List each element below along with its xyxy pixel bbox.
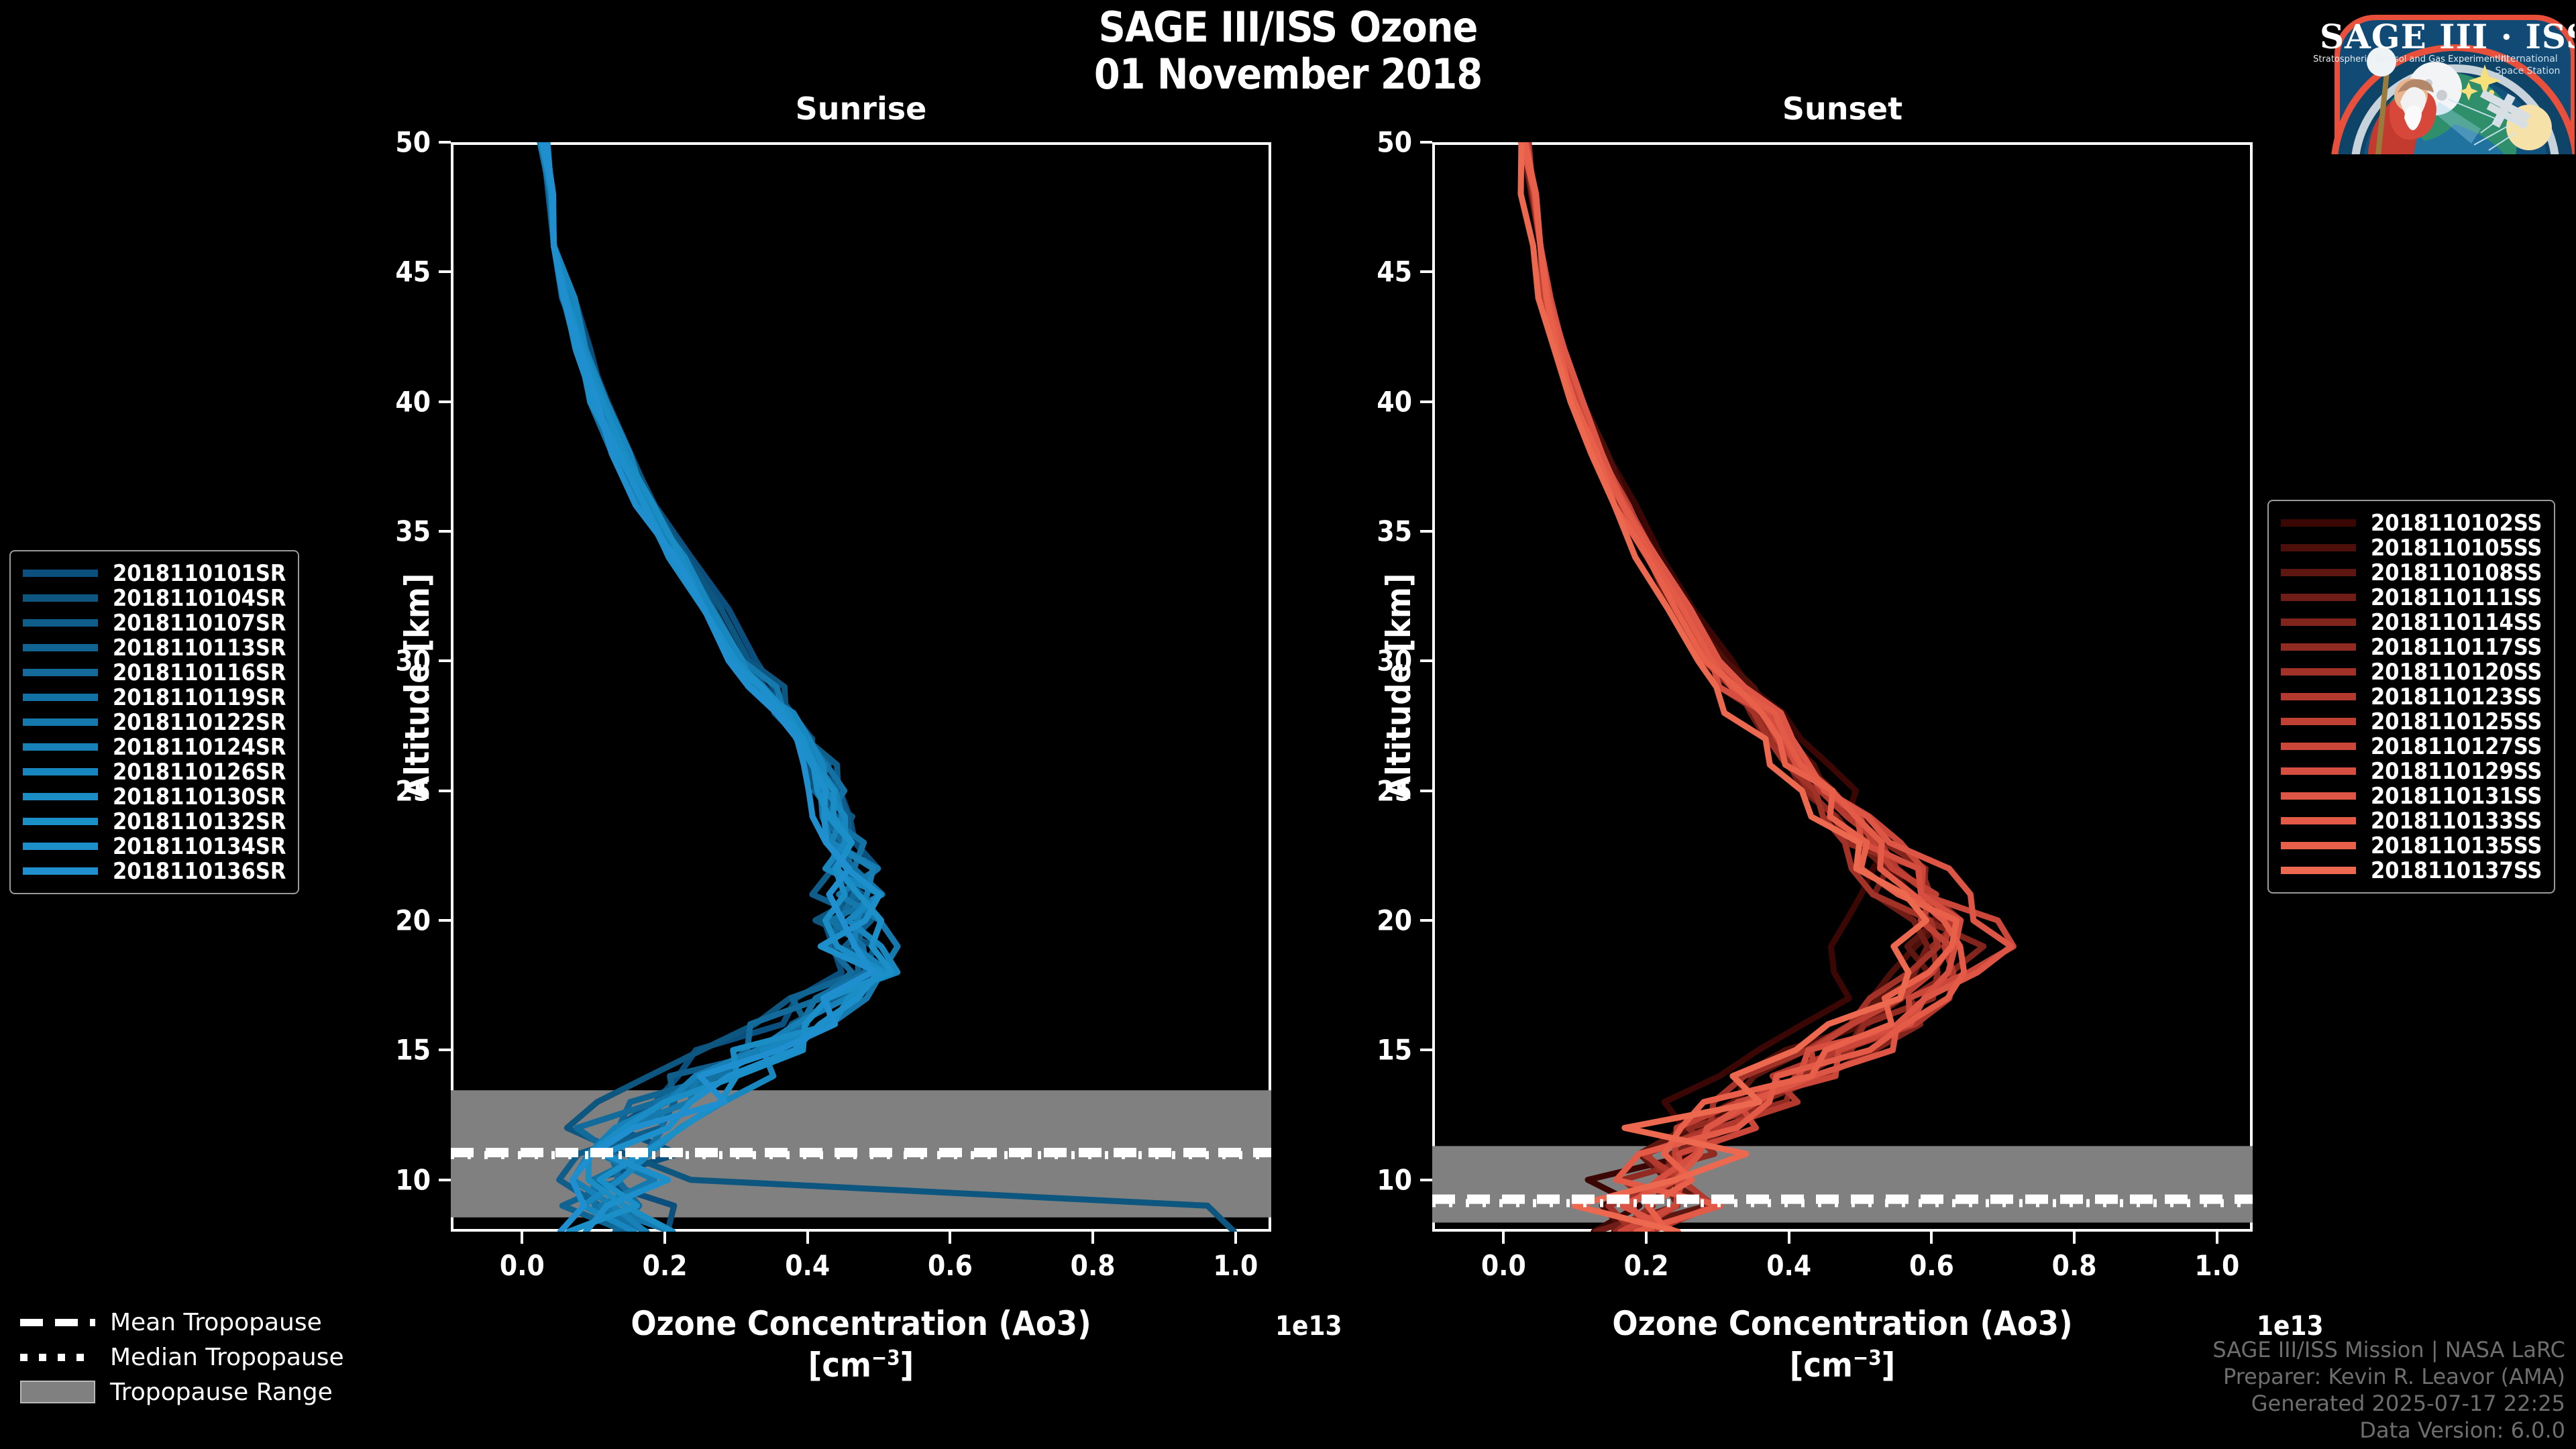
x-tick-mark — [663, 1232, 666, 1244]
svg-text:International: International — [2498, 54, 2557, 64]
legend-sunset-item[interactable]: 2018110111SS — [2281, 585, 2542, 610]
legend-sunset-item[interactable]: 2018110123SS — [2281, 684, 2542, 709]
x-tick-mark — [1502, 1232, 1505, 1244]
legend-item-label: 2018110133SS — [2371, 808, 2542, 835]
y-tick-label: 20 — [395, 904, 431, 937]
y-tick-label: 20 — [1377, 904, 1412, 937]
x-tick-label: 1.0 — [2194, 1249, 2239, 1282]
legend-color-swatch — [2281, 718, 2356, 725]
legend-sunset-item[interactable]: 2018110133SS — [2281, 808, 2542, 833]
legend-tropopause-label: Median Tropopause — [110, 1344, 344, 1371]
legend-color-swatch — [2281, 668, 2356, 676]
legend-sunrise-item[interactable]: 2018110122SR — [23, 710, 286, 735]
x-tick-mark — [1645, 1232, 1648, 1244]
x-tick-mark — [1930, 1232, 1933, 1244]
x-axis-title: Ozone Concentration (Ao3) — [1432, 1304, 2253, 1343]
y-tick-label: 50 — [1377, 126, 1412, 159]
y-tick-mark — [439, 790, 451, 792]
y-tick-mark — [1420, 530, 1432, 533]
dotted-line-icon — [20, 1354, 95, 1361]
y-axis-title: Altitude [km] — [398, 566, 437, 807]
dashed-line-icon — [20, 1319, 95, 1326]
legend-item-label: 2018110126SR — [113, 759, 286, 786]
x-axis-units: [cm−3] — [451, 1346, 1271, 1385]
legend-color-swatch — [23, 768, 98, 775]
ozone-profile-line — [547, 142, 1234, 1232]
svg-text:SAGE III · ISS: SAGE III · ISS — [2320, 17, 2575, 56]
y-tick-mark — [439, 1179, 451, 1181]
panel-subtitle-sunset: Sunset — [1432, 91, 2253, 127]
legend-item-label: 2018110125SS — [2371, 708, 2542, 735]
legend-color-swatch — [2281, 842, 2356, 849]
legend-color-swatch — [2281, 594, 2356, 601]
x-axis-title: Ozone Concentration (Ao3) — [451, 1304, 1271, 1343]
legend-item-label: 2018110108SS — [2371, 559, 2542, 586]
x-tick-mark — [949, 1232, 951, 1244]
legend-tropopause-item: Tropopause Range — [20, 1375, 344, 1409]
x-tick-mark — [521, 1232, 523, 1244]
legend-item-label: 2018110134SR — [113, 833, 286, 860]
y-tick-label: 10 — [1377, 1163, 1412, 1196]
legend-sunset-item[interactable]: 2018110108SS — [2281, 560, 2542, 585]
logo-svg: S SAGE III · ISS Stratospheric Aerosol a… — [2279, 1, 2575, 154]
legend-item-label: 2018110120SS — [2371, 659, 2542, 686]
legend-sunset-item[interactable]: 2018110114SS — [2281, 610, 2542, 635]
legend-item-label: 2018110129SS — [2371, 758, 2542, 785]
legend-item-label: 2018110107SR — [113, 610, 286, 637]
y-tick-label: 15 — [1377, 1034, 1412, 1067]
legend-sunrise-item[interactable]: 2018110134SR — [23, 834, 286, 859]
legend-item-label: 2018110135SS — [2371, 833, 2542, 859]
legend-sunset-item[interactable]: 2018110102SS — [2281, 511, 2542, 535]
legend-item-label: 2018110113SR — [113, 635, 286, 661]
y-tick-label: 35 — [395, 515, 431, 548]
legend-sunrise-item[interactable]: 2018110104SR — [23, 586, 286, 610]
y-tick-mark — [439, 659, 451, 662]
legend-color-swatch — [23, 570, 98, 577]
legend-sunrise-item[interactable]: 2018110101SR — [23, 561, 286, 586]
plot-panel-sunrise — [451, 142, 1271, 1232]
legend-sunrise-item[interactable]: 2018110107SR — [23, 610, 286, 635]
legend-color-swatch — [2281, 817, 2356, 824]
legend-color-swatch — [2281, 643, 2356, 651]
legend-color-swatch — [2281, 767, 2356, 775]
legend-sunrise-item[interactable]: 2018110132SR — [23, 809, 286, 834]
page-title: SAGE III/ISS Ozone 01 November 2018 — [0, 4, 2576, 98]
y-tick-mark — [1420, 1049, 1432, 1051]
legend-color-swatch — [23, 843, 98, 850]
legend-sunset-item[interactable]: 2018110135SS — [2281, 833, 2542, 858]
legend-color-swatch — [23, 867, 98, 875]
legend-sunset-item[interactable]: 2018110125SS — [2281, 709, 2542, 734]
y-tick-mark — [1420, 790, 1432, 792]
legend-sunrise-item[interactable]: 2018110126SR — [23, 759, 286, 784]
x-tick-mark — [806, 1232, 809, 1244]
legend-tropopause-label: Tropopause Range — [110, 1379, 333, 1406]
y-tick-mark — [439, 1049, 451, 1051]
x-tick-label: 0.8 — [2052, 1249, 2097, 1282]
x-axis-offset-label: 1e13 — [2257, 1311, 2324, 1342]
x-tick-label: 1.0 — [1213, 1249, 1258, 1282]
y-tick-mark — [1420, 400, 1432, 403]
legend-item-label: 2018110105SS — [2371, 535, 2542, 561]
y-tick-mark — [439, 400, 451, 403]
legend-tropopause-label: Mean Tropopause — [110, 1309, 322, 1336]
legend-item-label: 2018110137SS — [2371, 857, 2542, 884]
x-tick-label: 0.8 — [1071, 1249, 1116, 1282]
legend-sunrise-item[interactable]: 2018110116SR — [23, 660, 286, 685]
legend-sunrise-item[interactable]: 2018110119SR — [23, 685, 286, 710]
legend-color-swatch — [2281, 619, 2356, 626]
panel-subtitle-sunrise: Sunrise — [451, 91, 1271, 127]
legend-tropopause: Mean TropopauseMedian TropopauseTropopau… — [20, 1305, 344, 1409]
x-axis-offset-label: 1e13 — [1275, 1311, 1342, 1342]
legend-color-swatch — [2281, 569, 2356, 576]
x-tick-mark — [2073, 1232, 2076, 1244]
legend-item-label: 2018110111SS — [2371, 584, 2542, 611]
svg-text:Space Station: Space Station — [2495, 66, 2561, 76]
attribution-generated: Generated 2025-07-17 22:25 — [2212, 1390, 2565, 1417]
x-tick-label: 0.4 — [785, 1249, 830, 1282]
tropopause-range-band — [1432, 1146, 2253, 1222]
legend-color-swatch — [23, 743, 98, 751]
x-tick-label: 0.0 — [1481, 1249, 1526, 1282]
plot-area-sunrise — [451, 142, 1271, 1232]
legend-sunset-item[interactable]: 2018110129SS — [2281, 759, 2542, 784]
y-tick-mark — [1420, 270, 1432, 273]
x-tick-label: 0.6 — [1909, 1249, 1954, 1282]
y-tick-mark — [1420, 1179, 1432, 1181]
plot-area-sunset — [1432, 142, 2253, 1232]
legend-color-swatch — [23, 793, 98, 800]
x-axis-units: [cm−3] — [1432, 1346, 2253, 1385]
y-tick-mark — [439, 530, 451, 533]
legend-color-swatch — [2281, 544, 2356, 551]
legend-color-swatch — [23, 644, 98, 651]
y-tick-label: 45 — [1377, 256, 1412, 288]
x-tick-mark — [1091, 1232, 1094, 1244]
legend-color-swatch — [23, 594, 98, 602]
legend-tropopause-item: Median Tropopause — [20, 1340, 344, 1375]
y-tick-label: 40 — [1377, 385, 1412, 418]
legend-sunset[interactable]: 2018110102SS2018110105SS2018110108SS2018… — [2267, 500, 2555, 894]
logo-subtitle-left: Stratospheric Aerosol and Gas Experiment… — [2313, 54, 2509, 64]
shaded-band-icon — [20, 1381, 95, 1403]
legend-item-label: 2018110124SR — [113, 734, 286, 761]
legend-item-label: 2018110123SS — [2371, 684, 2542, 710]
x-tick-label: 0.6 — [928, 1249, 973, 1282]
legend-sunset-item[interactable]: 2018110105SS — [2281, 535, 2542, 560]
legend-item-label: 2018110122SR — [113, 709, 286, 736]
legend-color-swatch — [2281, 519, 2356, 527]
legend-color-swatch — [23, 718, 98, 726]
legend-item-label: 2018110117SS — [2371, 634, 2542, 661]
legend-color-swatch — [2281, 867, 2356, 874]
legend-sunrise-item[interactable]: 2018110113SR — [23, 635, 286, 660]
legend-item-label: 2018110130SR — [113, 784, 286, 810]
title-line-1: SAGE III/ISS Ozone — [0, 4, 2576, 51]
y-tick-mark — [439, 141, 451, 144]
y-tick-label: 50 — [395, 126, 431, 159]
legend-sunrise-item[interactable]: 2018110136SR — [23, 859, 286, 883]
legend-color-swatch — [2281, 792, 2356, 800]
y-tick-label: 40 — [395, 385, 431, 418]
x-tick-label: 0.4 — [1766, 1249, 1811, 1282]
attribution-block: SAGE III/ISS Mission | NASA LaRC Prepare… — [2212, 1336, 2565, 1444]
legend-sunset-item[interactable]: 2018110137SS — [2281, 858, 2542, 883]
y-tick-mark — [1420, 141, 1432, 144]
y-tick-label: 10 — [395, 1163, 431, 1196]
y-tick-label: 35 — [1377, 515, 1412, 548]
legend-item-label: 2018110127SS — [2371, 733, 2542, 760]
legend-item-label: 2018110131SS — [2371, 783, 2542, 810]
legend-item-label: 2018110119SR — [113, 684, 286, 711]
legend-sunrise-item[interactable]: 2018110124SR — [23, 735, 286, 759]
legend-item-label: 2018110136SR — [113, 858, 286, 885]
legend-tropopause-item: Mean Tropopause — [20, 1305, 344, 1340]
y-tick-label: 45 — [395, 256, 431, 288]
legend-color-swatch — [2281, 693, 2356, 700]
x-tick-mark — [2216, 1232, 2218, 1244]
y-tick-mark — [439, 270, 451, 273]
y-tick-mark — [439, 919, 451, 922]
y-tick-label: 15 — [395, 1034, 431, 1067]
attribution-preparer: Preparer: Kevin R. Leavor (AMA) — [2212, 1363, 2565, 1390]
legend-item-label: 2018110116SR — [113, 659, 286, 686]
legend-sunrise[interactable]: 2018110101SR2018110104SR2018110107SR2018… — [9, 550, 299, 894]
legend-color-swatch — [23, 619, 98, 627]
legend-sunrise-item[interactable]: 2018110130SR — [23, 784, 286, 809]
legend-item-label: 2018110102SS — [2371, 510, 2542, 537]
legend-item-label: 2018110104SR — [113, 585, 286, 612]
y-tick-mark — [1420, 919, 1432, 922]
legend-color-swatch — [2281, 743, 2356, 750]
legend-item-label: 2018110101SR — [113, 560, 286, 587]
y-axis-title: Altitude [km] — [1379, 566, 1418, 807]
x-tick-label: 0.0 — [500, 1249, 545, 1282]
legend-color-swatch — [23, 818, 98, 825]
legend-sunset-item[interactable]: 2018110131SS — [2281, 784, 2542, 808]
x-tick-mark — [1788, 1232, 1790, 1244]
legend-item-label: 2018110132SR — [113, 808, 286, 835]
legend-item-label: 2018110114SS — [2371, 609, 2542, 636]
legend-color-swatch — [23, 694, 98, 701]
x-tick-label: 0.2 — [643, 1249, 688, 1282]
legend-sunset-item[interactable]: 2018110117SS — [2281, 635, 2542, 659]
legend-sunset-item[interactable]: 2018110120SS — [2281, 659, 2542, 684]
x-tick-label: 0.2 — [1624, 1249, 1669, 1282]
plot-panel-sunset — [1432, 142, 2253, 1232]
x-tick-mark — [1234, 1232, 1237, 1244]
y-tick-mark — [1420, 659, 1432, 662]
attribution-data-version: Data Version: 6.0.0 — [2212, 1417, 2565, 1444]
legend-color-swatch — [23, 669, 98, 676]
legend-sunset-item[interactable]: 2018110127SS — [2281, 734, 2542, 759]
sage-iii-iss-logo: S SAGE III · ISS Stratospheric Aerosol a… — [2279, 1, 2575, 154]
